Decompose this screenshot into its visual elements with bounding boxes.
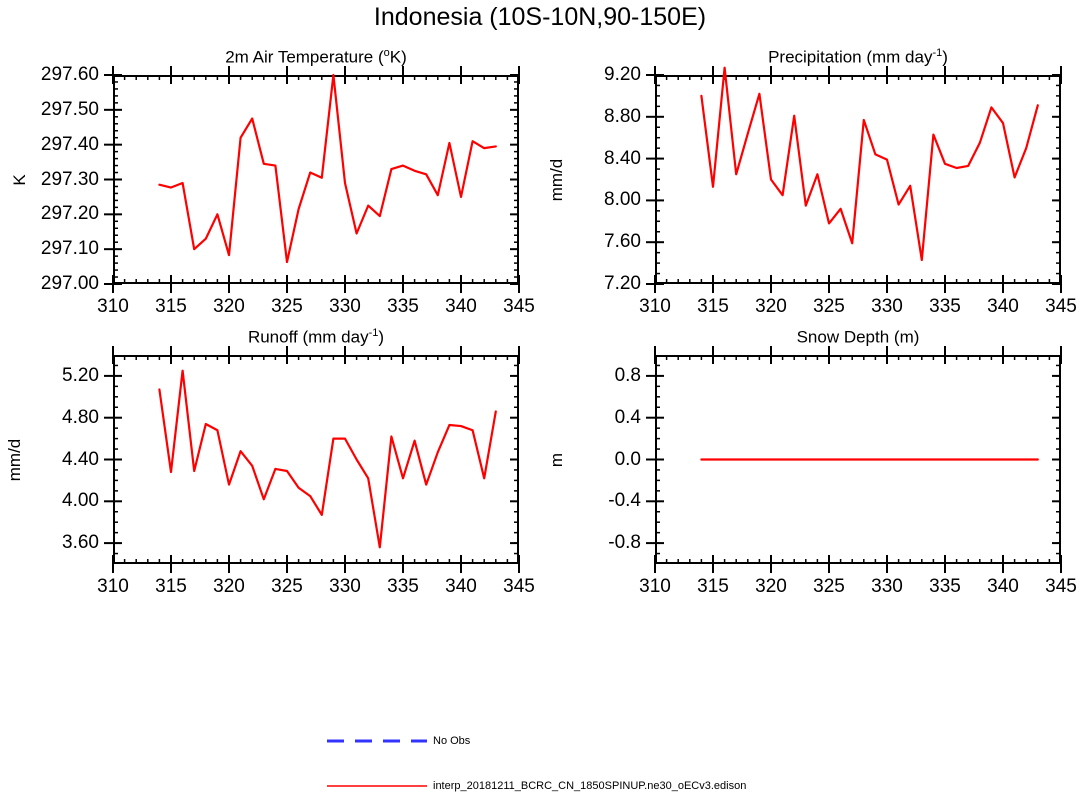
y-tick-label: 8.40	[604, 148, 641, 170]
y-tick-label: 4.00	[62, 490, 99, 512]
x-tick-label: 325	[271, 576, 303, 598]
y-tick-label: 4.80	[62, 407, 99, 429]
x-tick-label: 335	[929, 576, 961, 598]
y-tick-label: -0.4	[608, 490, 641, 512]
panel-title-superscript: -1	[369, 327, 379, 339]
x-tick-label: 335	[929, 296, 961, 318]
x-tick-label: 345	[503, 296, 535, 318]
y-tick-label: 297.00	[41, 273, 99, 295]
x-tick-label: 345	[1045, 296, 1077, 318]
y-tick-label: -0.8	[608, 532, 641, 554]
panel-precipitation-title: Precipitation (mm day-1)	[655, 47, 1061, 68]
panel-title-text: Precipitation (mm day	[768, 48, 932, 67]
y-tick-label: 0.0	[615, 449, 641, 471]
y-tick-label: 0.4	[615, 407, 641, 429]
y-axis-label: mm/d	[547, 158, 567, 201]
x-tick-label: 340	[987, 296, 1019, 318]
legend-label-no-obs: No Obs	[433, 735, 470, 747]
panel-snow-depth: Snow Depth (m) -0.8-0.40.00.40.831031532…	[655, 355, 1061, 564]
axes-runoff	[113, 355, 519, 564]
y-tick-label: 3.60	[62, 532, 99, 554]
y-tick-label: 297.60	[41, 64, 99, 86]
panel-air-temperature-title: 2m Air Temperature (oK)	[113, 47, 519, 68]
x-tick-label: 340	[987, 576, 1019, 598]
x-tick-label: 345	[503, 576, 535, 598]
figure-canvas: Indonesia (10S-10N,90-150E) 2m Air Tempe…	[0, 0, 1080, 796]
x-tick-label: 325	[813, 576, 845, 598]
y-tick-label: 5.20	[62, 365, 99, 387]
y-axis-label: mm/d	[5, 438, 25, 481]
axes-air-temperature	[113, 75, 519, 284]
y-tick-label: 7.60	[604, 231, 641, 253]
axes-snow-depth	[655, 355, 1061, 564]
panel-runoff-title: Runoff (mm day-1)	[113, 327, 519, 348]
panel-air-temperature: 2m Air Temperature (oK) 297.00297.10297.…	[113, 75, 519, 284]
x-tick-label: 335	[387, 576, 419, 598]
x-tick-label: 315	[155, 576, 187, 598]
no-obs-line-sample	[325, 733, 429, 749]
x-tick-label: 320	[213, 576, 245, 598]
y-tick-label: 297.50	[41, 99, 99, 121]
x-tick-label: 330	[329, 576, 361, 598]
panel-title-tail: )	[378, 328, 384, 347]
y-tick-label: 0.8	[615, 365, 641, 387]
x-tick-label: 310	[97, 576, 129, 598]
y-tick-label: 297.40	[41, 134, 99, 156]
x-tick-label: 335	[387, 296, 419, 318]
panel-title-text: Runoff (mm day	[248, 328, 369, 347]
y-tick-label: 297.10	[41, 238, 99, 260]
x-tick-label: 315	[697, 296, 729, 318]
x-tick-label: 325	[271, 296, 303, 318]
x-tick-label: 340	[445, 576, 477, 598]
panel-title-tail: K)	[390, 48, 407, 67]
x-tick-label: 310	[639, 296, 671, 318]
x-tick-label: 325	[813, 296, 845, 318]
x-tick-label: 320	[755, 576, 787, 598]
x-tick-label: 320	[755, 296, 787, 318]
x-tick-label: 340	[445, 296, 477, 318]
data-series-line	[701, 68, 1037, 260]
y-tick-label: 297.20	[41, 203, 99, 225]
legend-entry-no-obs: No Obs	[325, 733, 745, 749]
x-tick-label: 315	[697, 576, 729, 598]
x-tick-label: 330	[871, 296, 903, 318]
y-tick-label: 4.40	[62, 449, 99, 471]
x-tick-label: 330	[871, 576, 903, 598]
data-series-line	[159, 371, 495, 548]
y-tick-label: 297.30	[41, 169, 99, 191]
x-tick-label: 330	[329, 296, 361, 318]
x-tick-label: 320	[213, 296, 245, 318]
figure-title: Indonesia (10S-10N,90-150E)	[0, 0, 1080, 34]
panel-snow-depth-title: Snow Depth (m)	[655, 327, 1061, 348]
panel-title-text: 2m Air Temperature (	[225, 48, 383, 67]
x-tick-label: 345	[1045, 576, 1077, 598]
y-axis-label: m	[547, 452, 567, 466]
data-series-line	[159, 75, 495, 262]
x-tick-label: 310	[639, 576, 671, 598]
y-tick-label: 8.00	[604, 189, 641, 211]
y-tick-label: 9.20	[604, 64, 641, 86]
x-tick-label: 310	[97, 296, 129, 318]
panel-title-tail: )	[942, 48, 948, 67]
x-tick-label: 315	[155, 296, 187, 318]
panel-runoff: Runoff (mm day-1) 3.604.004.404.805.2031…	[113, 355, 519, 564]
panel-title-superscript: -1	[932, 47, 942, 59]
panel-precipitation: Precipitation (mm day-1) 7.207.608.008.4…	[655, 75, 1061, 284]
legend-entry-model-run: interp_20181211_BCRC_CN_1850SPINUP.ne30_…	[325, 778, 965, 794]
y-axis-label: K	[10, 174, 30, 185]
legend-label-model-run: interp_20181211_BCRC_CN_1850SPINUP.ne30_…	[433, 780, 746, 792]
axes-precipitation	[655, 75, 1061, 284]
panel-title-text: Snow Depth (m)	[797, 328, 920, 347]
y-tick-label: 8.80	[604, 106, 641, 128]
model-run-line-sample	[325, 778, 429, 794]
y-tick-label: 7.20	[604, 273, 641, 295]
